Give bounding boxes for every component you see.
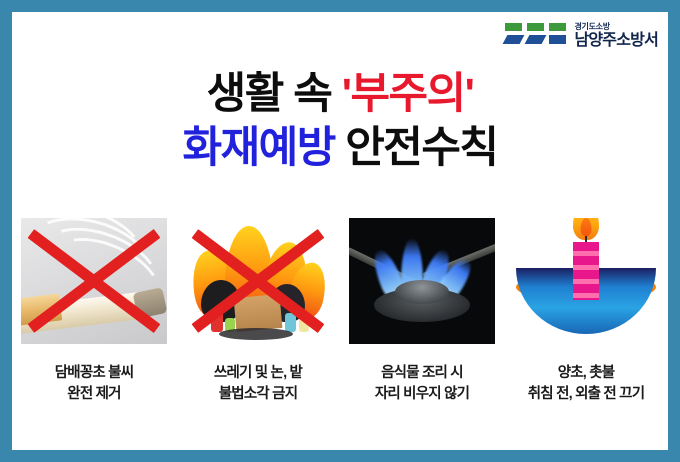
logo-green-bar <box>527 23 544 31</box>
ground-shadow <box>219 328 293 340</box>
safety-tips-row: 담배꽁초 불씨 완전 제거 <box>12 218 668 405</box>
agency-name-block: 경기도소방 남양주소방서 <box>574 23 658 49</box>
candle-in-bowl-illustration <box>513 218 659 344</box>
safety-tip-3: 음식물 조리 시 자리 비우지 않기 <box>340 218 504 405</box>
logo-green-bar <box>505 23 522 31</box>
title-line-1-black: 생활 속 <box>207 70 342 118</box>
caption-line-2: 취침 전, 외출 전 끄기 <box>504 384 668 405</box>
title-line-2: 화재예방 안전수칙 <box>12 122 668 176</box>
logo-mark-column-1 <box>505 20 522 52</box>
litter-item <box>211 312 223 332</box>
title-line-2-blue: 화재예방 <box>183 124 335 172</box>
logo-mark-column-2 <box>527 20 544 52</box>
logo-mark-column-3 <box>549 20 566 52</box>
logo-blue-bar <box>549 35 566 44</box>
caption-line-1: 담배꽁초 불씨 <box>12 363 176 384</box>
title-line-1: 생활 속 '부주의' <box>12 68 668 122</box>
title-line-1-red: '부주의' <box>342 70 474 118</box>
safety-tip-4-caption: 양초, 촛불 취침 전, 외출 전 끄기 <box>504 363 668 405</box>
fire-service-logo-icon <box>505 20 567 52</box>
gas-stove-burner-photo <box>349 218 495 344</box>
caption-line-2: 자리 비우지 않기 <box>340 384 504 405</box>
litter-item <box>299 317 309 332</box>
caption-line-1: 음식물 조리 시 <box>340 363 504 384</box>
litter-item <box>285 313 296 332</box>
cardboard-box <box>234 294 283 332</box>
cigarette-filter <box>21 293 62 325</box>
cigarette-ash <box>133 287 167 319</box>
safety-tip-1-caption: 담배꽁초 불씨 완전 제거 <box>12 363 176 405</box>
agency-logo: 경기도소방 남양주소방서 <box>505 20 658 52</box>
cigarette-butt-illustration <box>21 218 167 344</box>
title-line-2-black: 안전수칙 <box>335 124 498 172</box>
candle-body <box>573 242 599 300</box>
safety-tip-2-caption: 쓰레기 및 논, 밭 불법소각 금지 <box>176 363 340 405</box>
safety-tip-3-caption: 음식물 조리 시 자리 비우지 않기 <box>340 363 504 405</box>
safety-tip-1: 담배꽁초 불씨 완전 제거 <box>12 218 176 405</box>
safety-tip-2: 쓰레기 및 논, 밭 불법소각 금지 <box>176 218 340 405</box>
agency-parent-name: 경기도소방 <box>574 23 658 31</box>
logo-blue-slash <box>503 35 525 44</box>
poster-frame: 경기도소방 남양주소방서 생활 속 '부주의' 화재예방 안전수칙 <box>0 0 680 462</box>
agency-station-name: 남양주소방서 <box>574 33 658 49</box>
burner-cap <box>395 280 449 304</box>
caption-line-1: 쓰레기 및 논, 밭 <box>176 363 340 384</box>
caption-line-2: 불법소각 금지 <box>176 384 340 405</box>
logo-blue-slash <box>525 35 547 44</box>
poster-canvas: 경기도소방 남양주소방서 생활 속 '부주의' 화재예방 안전수칙 <box>12 12 668 450</box>
page-title: 생활 속 '부주의' 화재예방 안전수칙 <box>12 68 668 176</box>
logo-green-bar <box>549 23 566 31</box>
caption-line-1: 양초, 촛불 <box>504 363 668 384</box>
burning-trash-illustration <box>185 218 331 344</box>
safety-tip-4: 양초, 촛불 취침 전, 외출 전 끄기 <box>504 218 668 405</box>
caption-line-2: 완전 제거 <box>12 384 176 405</box>
